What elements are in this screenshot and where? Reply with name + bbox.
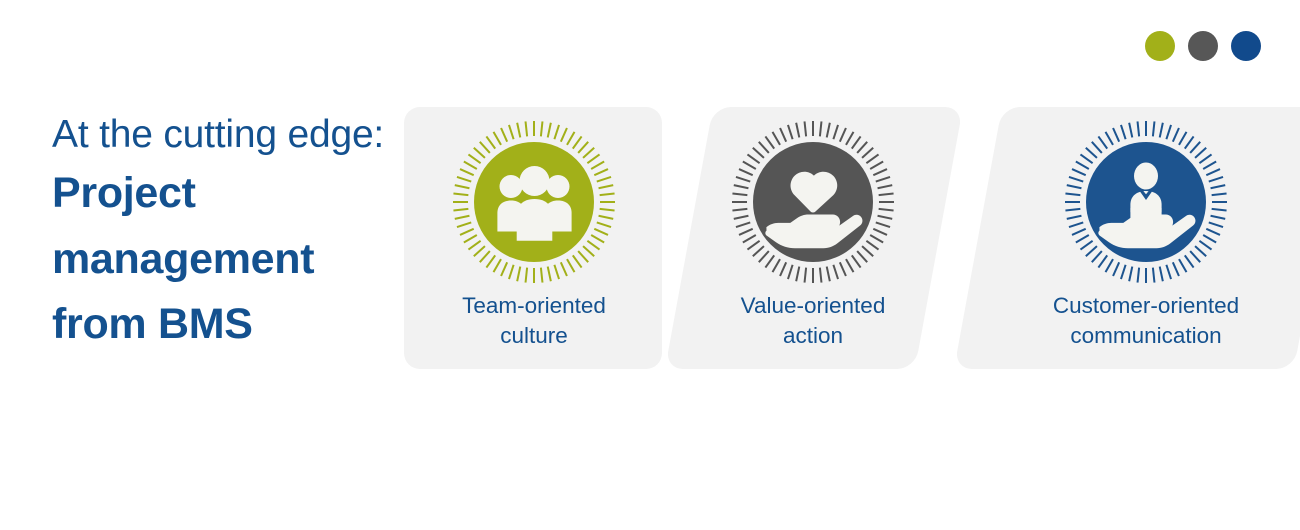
brand-dot-blue — [1231, 31, 1261, 61]
hand-holding-person-icon — [1060, 116, 1232, 288]
pillar-card-label-line-2: action — [741, 321, 886, 351]
pillar-card-label-line-1: Value-oriented — [741, 291, 886, 321]
pillar-card-label-line-1: Team-oriented — [462, 291, 606, 321]
pillar-card-label: Customer-oriented communication — [1053, 291, 1239, 350]
brand-dot-olive — [1145, 31, 1175, 61]
hand-holding-heart-icon — [727, 116, 899, 288]
pillar-card-group: Team-oriented culture — [0, 107, 1300, 369]
pillar-card-label: Value-oriented action — [741, 291, 886, 350]
team-people-icon — [448, 116, 620, 288]
brand-dot-group — [1145, 31, 1261, 61]
pillar-card-label-line-1: Customer-oriented — [1053, 291, 1239, 321]
pillar-card-customer[interactable]: Customer-oriented communication — [954, 107, 1300, 369]
brand-dot-gray — [1188, 31, 1218, 61]
pillar-card-label: Team-oriented culture — [462, 291, 606, 350]
pillar-card-label-line-2: communication — [1053, 321, 1239, 351]
pillar-card-team[interactable]: Team-oriented culture — [404, 107, 662, 369]
banner-canvas: At the cutting edge: Project management … — [0, 0, 1300, 530]
pillar-card-label-line-2: culture — [462, 321, 606, 351]
pillar-card-value[interactable]: Value-oriented action — [665, 107, 963, 369]
